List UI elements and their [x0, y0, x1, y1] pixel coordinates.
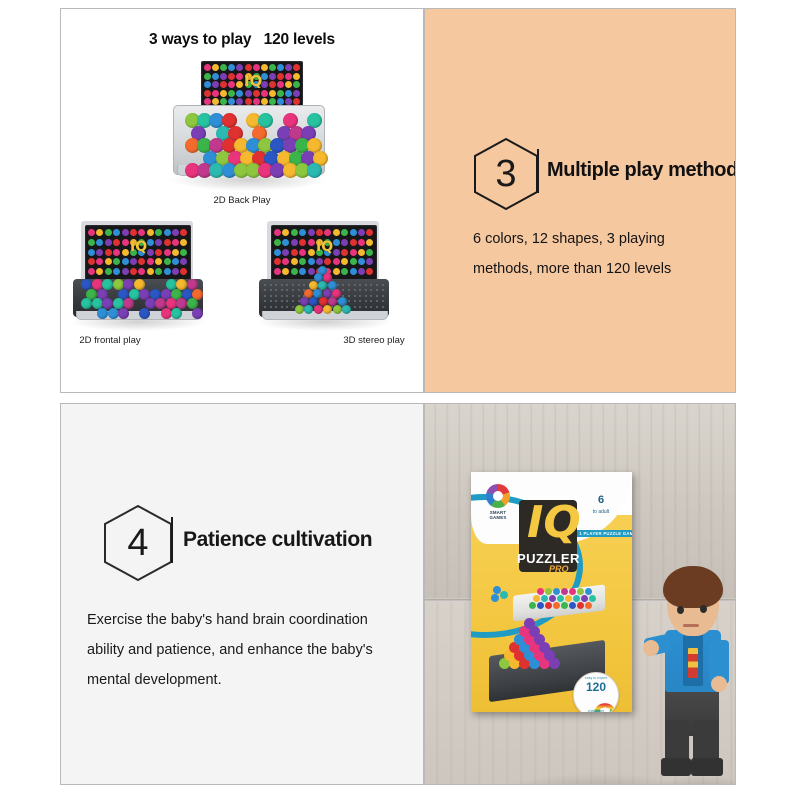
tray-peg	[264, 284, 266, 286]
tray-peg	[298, 284, 300, 286]
puzzle-bead	[96, 229, 103, 236]
puzzle-bead	[212, 73, 219, 80]
puzzle-bead	[236, 73, 243, 80]
product-box: SMART GAMES IQ PUZZLER PRO 6 to adult 1 …	[471, 472, 632, 712]
hexagon-divider-bar	[537, 149, 539, 193]
tray-peg	[354, 295, 356, 297]
puzzle-bead	[164, 258, 171, 265]
puzzle-bead	[105, 239, 112, 246]
badge-number: 120	[574, 681, 618, 693]
puzzle-bead	[220, 90, 227, 97]
puzzle-bead	[228, 90, 235, 97]
tray-peg	[365, 295, 367, 297]
puzzle-bead	[299, 229, 306, 236]
minifigure-tie-stripes	[688, 648, 698, 678]
puzzle-bead	[96, 239, 103, 246]
puzzle-bead	[269, 64, 276, 71]
puzzle-bead	[350, 229, 357, 236]
puzzle-bead	[180, 268, 187, 275]
puzzle-bead	[333, 305, 342, 314]
tray-peg	[354, 289, 356, 291]
body-text-line-2: methods, more than 120 levels	[473, 261, 671, 277]
puzzle-bead	[524, 618, 535, 629]
puzzle-bead	[88, 268, 95, 275]
puzzle-bead	[324, 229, 331, 236]
puzzle-bead	[291, 239, 298, 246]
device-3d-stereo-play: IQ	[259, 221, 389, 331]
tray-peg	[348, 295, 350, 297]
puzzle-bead	[341, 249, 348, 256]
minifigure-foot-left	[661, 758, 691, 776]
tray-peg	[281, 289, 283, 291]
puzzle-bead	[220, 81, 227, 88]
smart-games-logo-icon	[486, 484, 510, 508]
puzzle-bead	[299, 258, 306, 265]
puzzle-bead	[105, 268, 112, 275]
puzzle-bead	[285, 90, 292, 97]
puzzle-bead	[277, 90, 284, 97]
puzzle-bead	[138, 268, 145, 275]
tray-peg	[348, 289, 350, 291]
tray-peg	[382, 295, 384, 297]
puzzle-bead	[236, 90, 243, 97]
puzzle-bead	[308, 249, 315, 256]
puzzle-bead	[282, 249, 289, 256]
puzzle-bead	[88, 229, 95, 236]
tray-peg	[275, 289, 277, 291]
tray-peg	[286, 306, 288, 308]
puzzle-bead	[282, 229, 289, 236]
puzzle-bead	[341, 258, 348, 265]
tray-peg	[382, 289, 384, 291]
puzzle-bead	[295, 305, 304, 314]
puzzle-bead	[299, 268, 306, 275]
puzzle-bead	[122, 239, 129, 246]
minifigure-brow-left	[675, 600, 688, 603]
puzzle-bead	[293, 64, 300, 71]
puzzle-bead	[333, 258, 340, 265]
smart-games-logo-text: SMART GAMES	[480, 510, 516, 520]
panel-patience-cultivation: 4 Patience cultivation Exercise the baby…	[60, 403, 424, 785]
age-label: to adult	[581, 509, 621, 515]
puzzle-bead	[358, 229, 365, 236]
puzzle-bead	[366, 258, 373, 265]
puzzle-bead	[358, 249, 365, 256]
puzzle-bead	[172, 258, 179, 265]
puzzle-bead	[147, 249, 154, 256]
tray-peg	[264, 306, 266, 308]
caption-3d-stereo-play: 3D stereo play	[193, 335, 424, 346]
minifigure-mouth	[683, 624, 699, 627]
tray-peg	[376, 289, 378, 291]
tray-peg	[370, 300, 372, 302]
puzzle-bead	[147, 268, 154, 275]
puzzle-bead	[269, 81, 276, 88]
puzzle-bead	[341, 268, 348, 275]
puzzle-bead	[285, 73, 292, 80]
puzzle-bead	[358, 258, 365, 265]
puzzle-bead	[285, 81, 292, 88]
tray-peg	[359, 289, 361, 291]
puzzle-bead	[304, 289, 313, 298]
minifigure	[643, 544, 736, 785]
device-lid: IQ	[85, 225, 191, 281]
puzzle-bead	[314, 305, 323, 314]
puzzle-bead	[88, 258, 95, 265]
puzzle-bead	[366, 249, 373, 256]
tray-peg	[354, 284, 356, 286]
puzzle-bead	[113, 258, 120, 265]
puzzle-bead	[138, 258, 145, 265]
puzzle-bead	[228, 73, 235, 80]
puzzle-bead	[113, 249, 120, 256]
puzzle-bead	[245, 90, 252, 97]
puzzle-bead	[161, 308, 172, 319]
puzzle-bead	[350, 249, 357, 256]
puzzle-bead	[147, 258, 154, 265]
puzzle-bead	[236, 64, 243, 71]
tray-peg	[303, 284, 305, 286]
tray-peg	[365, 306, 367, 308]
iq-logo-mark: IQ	[316, 240, 333, 254]
puzzle-bead	[228, 64, 235, 71]
section-heading-4: Patience cultivation	[183, 528, 372, 552]
puzzle-bead	[261, 64, 268, 71]
tray-peg	[270, 284, 272, 286]
puzzle-bead	[277, 64, 284, 71]
puzzle-bead	[308, 229, 315, 236]
puzzle-bead	[88, 239, 95, 246]
tray-peg	[376, 295, 378, 297]
loose-bead-piece	[500, 591, 508, 599]
puzzle-bead	[366, 229, 373, 236]
puzzle-bead	[113, 229, 120, 236]
puzzle-bead	[220, 64, 227, 71]
puzzle-bead	[309, 281, 318, 290]
tray-peg	[292, 300, 294, 302]
tray-peg	[275, 295, 277, 297]
tray-peg	[275, 300, 277, 302]
minifigure-eye-right	[700, 605, 707, 613]
puzzle-bead	[291, 258, 298, 265]
puzzle-bead	[130, 229, 137, 236]
tray-peg	[286, 300, 288, 302]
puzzle-bead	[333, 239, 340, 246]
puzzle-bead	[261, 90, 268, 97]
hexagon-badge-3: 3	[473, 137, 539, 211]
tray-peg	[337, 284, 339, 286]
puzzle-bead	[291, 249, 298, 256]
puzzle-bead	[253, 90, 260, 97]
tray-peg	[298, 289, 300, 291]
puzzle-bead	[328, 281, 337, 290]
tray-peg	[275, 284, 277, 286]
puzzle-bead	[171, 308, 182, 319]
puzzle-bead	[164, 239, 171, 246]
puzzle-bead	[147, 229, 154, 236]
tray-peg	[292, 284, 294, 286]
puzzle-bead	[180, 258, 187, 265]
puzzle-bead	[293, 81, 300, 88]
tray-peg	[286, 284, 288, 286]
puzzle-bead	[130, 258, 137, 265]
tray-peg	[264, 300, 266, 302]
puzzle-bead	[291, 229, 298, 236]
puzzle-bead	[96, 268, 103, 275]
tray-peg	[359, 295, 361, 297]
tray-peg	[270, 289, 272, 291]
puzzle-bead	[147, 239, 154, 246]
puzzle-bead	[269, 90, 276, 97]
puzzle-bead	[122, 268, 129, 275]
puzzle-bead	[333, 229, 340, 236]
minifigure-hair	[663, 566, 723, 608]
tray-peg	[281, 295, 283, 297]
tray-peg	[382, 306, 384, 308]
panel-multiple-play-methods: 3 Multiple play methods 6 colors, 12 sha…	[424, 8, 736, 393]
collage-title: 3 ways to play 120 levels	[61, 31, 423, 49]
puzzle-bead	[585, 588, 592, 595]
puzzle-bead	[113, 239, 120, 246]
puzzle-bead	[274, 239, 281, 246]
loose-bead-piece	[491, 594, 499, 602]
puzzle-bead	[96, 258, 103, 265]
tray-peg	[292, 289, 294, 291]
puzzle-bead	[308, 239, 315, 246]
puzzle-bead	[212, 64, 219, 71]
puzzle-bead	[164, 249, 171, 256]
tray-peg	[370, 295, 372, 297]
hexagon-number: 4	[103, 504, 173, 582]
tray-peg	[376, 300, 378, 302]
minifigure-brow-right	[698, 598, 711, 601]
puzzle-bead	[118, 308, 129, 319]
tray-peg	[370, 284, 372, 286]
puzzle-bead	[277, 81, 284, 88]
puzzle-bead	[545, 588, 552, 595]
hexagon-badge-4: 4	[103, 504, 173, 582]
puzzle-bead	[212, 90, 219, 97]
tray-peg	[342, 289, 344, 291]
puzzle-bead	[350, 268, 357, 275]
device-2d-back-play: IQ	[173, 61, 323, 186]
tray-peg	[365, 289, 367, 291]
puzzle-bead	[358, 268, 365, 275]
puzzle-bead	[341, 239, 348, 246]
puzzle-bead	[274, 249, 281, 256]
puzzle-bead	[236, 81, 243, 88]
puzzle-bead	[180, 249, 187, 256]
puzzle-bead	[285, 64, 292, 71]
puzzle-bead	[577, 588, 584, 595]
puzzle-bead	[277, 73, 284, 80]
puzzle-bead	[180, 239, 187, 246]
minifigure-hand-right	[711, 676, 727, 692]
tray-peg	[270, 295, 272, 297]
minifigure-hand-left	[643, 640, 659, 656]
puzzle-bead	[122, 229, 129, 236]
puzzle-bead	[105, 229, 112, 236]
puzzle-bead	[537, 588, 544, 595]
infographic-page: 3 ways to play 120 levels IQ 2D Back Pla…	[0, 0, 800, 800]
player-count-strip: 1 PLAYER PUZZLE GAME	[577, 530, 632, 537]
tray-peg	[298, 295, 300, 297]
hexagon-divider-bar	[171, 517, 173, 563]
iq-logo-mark: IQ	[244, 74, 262, 89]
puzzle-bead	[300, 297, 309, 306]
tray-peg	[370, 306, 372, 308]
puzzle-bead	[293, 73, 300, 80]
puzzle-bead	[308, 268, 315, 275]
body-text-line-1: Exercise the baby's hand brain coordinat…	[87, 612, 368, 628]
puzzle-bead	[333, 249, 340, 256]
device-lid: IQ	[201, 61, 303, 110]
hexagon-number: 3	[473, 137, 539, 211]
tray-peg	[359, 300, 361, 302]
puzzle-bead	[553, 588, 560, 595]
tray-peg	[359, 284, 361, 286]
puzzle-bead	[155, 258, 162, 265]
tray-peg	[281, 300, 283, 302]
tray-peg	[342, 284, 344, 286]
tray-peg	[275, 306, 277, 308]
puzzle-bead	[96, 249, 103, 256]
body-text-line-1: 6 colors, 12 shapes, 3 playing	[473, 231, 665, 247]
tray-peg	[376, 306, 378, 308]
puzzle-bead	[350, 239, 357, 246]
iq-logo-mark: IQ	[130, 240, 147, 254]
puzzle-bead	[172, 229, 179, 236]
tray-peg	[286, 295, 288, 297]
tray-peg	[382, 300, 384, 302]
challenge-count-badge: easy to expert 120 challenges	[573, 672, 619, 712]
puzzle-bead	[316, 229, 323, 236]
puzzle-bead	[172, 249, 179, 256]
puzzle-bead	[323, 289, 332, 298]
panel-lifestyle-photo: SMART GAMES IQ PUZZLER PRO 6 to adult 1 …	[424, 403, 736, 785]
minifigure-eye-left	[677, 606, 684, 614]
puzzle-bead	[282, 258, 289, 265]
puzzle-bead	[366, 268, 373, 275]
puzzle-bead	[319, 297, 328, 306]
puzzle-bead	[561, 588, 568, 595]
puzzle-bead	[204, 90, 211, 97]
tray-peg	[370, 289, 372, 291]
tray-peg	[354, 300, 356, 302]
caption-2d-back-play: 2D Back Play	[61, 195, 423, 206]
puzzle-bead	[274, 258, 281, 265]
puzzle-bead	[307, 163, 322, 178]
puzzle-bead	[122, 258, 129, 265]
panel-product-collage: 3 ways to play 120 levels IQ 2D Back Pla…	[60, 8, 424, 393]
puzzle-bead	[569, 588, 576, 595]
puzzle-bead	[282, 268, 289, 275]
tray-peg	[376, 284, 378, 286]
age-number: 6	[581, 494, 621, 506]
puzzle-bead	[341, 229, 348, 236]
puzzle-bead	[269, 73, 276, 80]
puzzle-bead	[358, 239, 365, 246]
section-heading-3: Multiple play methods	[547, 159, 736, 182]
iq-title-pro: PRO	[549, 564, 569, 574]
tray-peg	[286, 289, 288, 291]
tray-peg	[348, 300, 350, 302]
tray-peg	[281, 306, 283, 308]
puzzle-bead	[105, 249, 112, 256]
puzzle-bead	[172, 268, 179, 275]
puzzle-bead	[274, 229, 281, 236]
puzzle-bead	[228, 81, 235, 88]
puzzle-bead	[155, 268, 162, 275]
tray-peg	[359, 306, 361, 308]
tray-peg	[264, 289, 266, 291]
tray-peg	[348, 284, 350, 286]
puzzle-bead	[318, 266, 327, 275]
puzzle-bead	[130, 268, 137, 275]
puzzle-bead	[299, 239, 306, 246]
puzzle-bead	[172, 239, 179, 246]
tray-peg	[270, 306, 272, 308]
puzzle-bead	[204, 73, 211, 80]
puzzle-bead	[108, 308, 119, 319]
puzzle-bead	[342, 305, 351, 314]
tray-peg	[354, 306, 356, 308]
puzzle-bead	[324, 258, 331, 265]
puzzle-bead	[97, 308, 108, 319]
puzzle-bead	[253, 64, 260, 71]
puzzle-bead	[138, 229, 145, 236]
tray-peg	[264, 295, 266, 297]
puzzle-bead	[316, 258, 323, 265]
puzzle-bead	[164, 268, 171, 275]
minifigure-foot-right	[691, 758, 723, 776]
puzzle-bead	[113, 268, 120, 275]
tray-peg	[365, 284, 367, 286]
puzzle-bead	[291, 268, 298, 275]
puzzle-bead	[105, 258, 112, 265]
puzzle-bead	[122, 249, 129, 256]
puzzle-bead	[282, 239, 289, 246]
puzzle-bead	[338, 297, 347, 306]
body-text-line-2: ability and patience, and enhance the ba…	[87, 642, 373, 658]
tray-peg	[365, 300, 367, 302]
iq-title-main: IQ	[527, 502, 581, 544]
tray-peg	[292, 306, 294, 308]
puzzle-bead	[220, 73, 227, 80]
puzzle-bead	[180, 229, 187, 236]
puzzle-bead	[274, 268, 281, 275]
puzzle-bead	[204, 81, 211, 88]
puzzle-bead	[333, 268, 340, 275]
puzzle-bead	[155, 249, 162, 256]
tray-peg	[270, 300, 272, 302]
tray-peg	[382, 284, 384, 286]
puzzle-bead	[299, 249, 306, 256]
puzzle-bead	[212, 81, 219, 88]
puzzle-bead	[293, 90, 300, 97]
puzzle-bead	[308, 258, 315, 265]
device-2d-frontal-play: IQ	[73, 221, 203, 331]
puzzle-bead	[204, 64, 211, 71]
puzzle-bead	[155, 229, 162, 236]
tray-peg	[292, 295, 294, 297]
tray-peg	[281, 284, 283, 286]
puzzle-bead	[88, 249, 95, 256]
puzzle-bead	[366, 239, 373, 246]
body-text-line-3: mental development.	[87, 672, 222, 688]
puzzle-bead	[245, 64, 252, 71]
puzzle-bead	[350, 258, 357, 265]
